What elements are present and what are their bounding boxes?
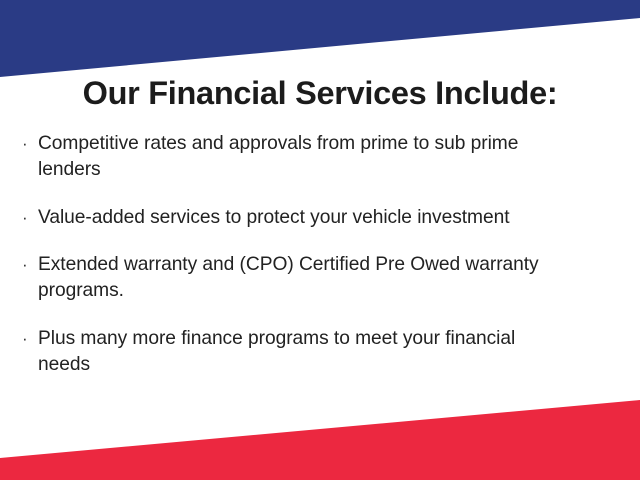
bullet-dot-icon: · — [22, 131, 34, 157]
list-item: · Plus many more finance programs to mee… — [21, 326, 621, 378]
list-item: · Competitive rates and approvals from p… — [21, 131, 621, 183]
slide-title: Our Financial Services Include: — [0, 76, 640, 110]
bullet-dot-icon: · — [22, 252, 34, 278]
bullet-list: · Competitive rates and approvals from p… — [21, 131, 621, 378]
bullet-dot-icon: · — [22, 205, 34, 231]
bullet-dot-icon: · — [22, 326, 34, 352]
list-item-label: Extended warranty and (CPO) Certified Pr… — [38, 252, 543, 304]
red-angled-banner — [0, 400, 640, 480]
list-item-label: Competitive rates and approvals from pri… — [38, 131, 558, 183]
list-item: · Extended warranty and (CPO) Certified … — [21, 252, 621, 304]
blue-angled-banner — [0, 0, 640, 77]
list-item: · Value-added services to protect your v… — [21, 205, 621, 231]
presentation-slide: Our Financial Services Include: · Compet… — [0, 0, 640, 480]
list-item-label: Value-added services to protect your veh… — [38, 205, 621, 231]
list-item-label: Plus many more finance programs to meet … — [38, 326, 530, 378]
